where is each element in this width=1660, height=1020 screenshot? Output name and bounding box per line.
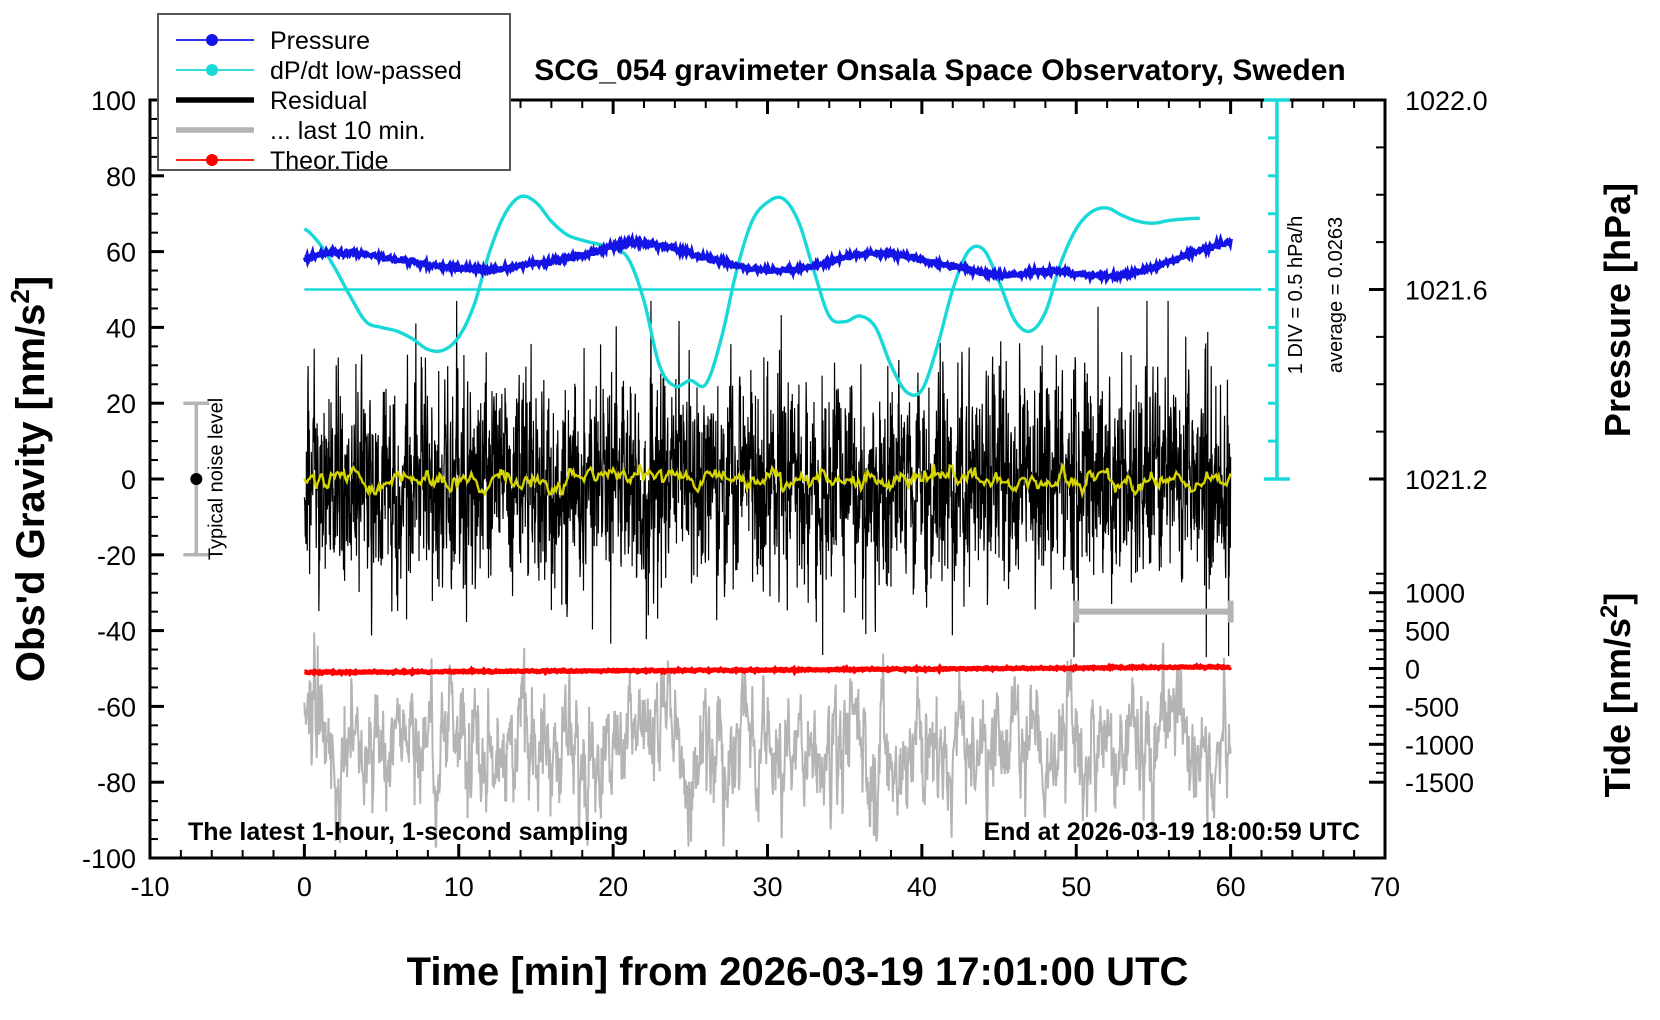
legend-swatch-marker: [206, 64, 218, 76]
x-tick-label: 10: [444, 872, 474, 902]
y-tick-label: -60: [97, 692, 136, 722]
y-axis-label: Obs'd Gravity [nm/s2]: [5, 276, 53, 682]
y-tick-label: 40: [106, 313, 136, 343]
x-tick-label: 50: [1061, 872, 1091, 902]
legend-label: Residual: [270, 87, 367, 115]
y-tick-label: 100: [91, 86, 136, 116]
noise-bar-center-dot: [190, 473, 202, 485]
x-tick-label: 30: [752, 872, 782, 902]
pressure-axis-label: Pressure [hPa]: [1597, 183, 1638, 437]
x-tick-label: 0: [297, 872, 312, 902]
tide-tick-label: -1500: [1405, 768, 1474, 798]
pressure-tick-label: 1021.6: [1405, 276, 1488, 306]
legend-label: Theor.Tide: [270, 147, 389, 175]
bottom-right-annotation: End at 2026-03-19 18:00:59 UTC: [983, 818, 1360, 846]
legend-swatch-marker: [206, 34, 218, 46]
gravimeter-plot: -10010203040506070-100-80-60-40-20020406…: [0, 0, 1660, 1020]
tide-axis-label: Tide [nm/s2]: [1596, 593, 1639, 798]
legend-label: dP/dt low-passed: [270, 57, 462, 85]
div-scale-label: 1 DIV = 0.5 hPa/h: [1285, 216, 1307, 374]
legend-label: Pressure: [270, 27, 370, 55]
tide-tick-label: 500: [1405, 617, 1450, 647]
tide-tick-label: -500: [1405, 692, 1459, 722]
y-tick-label: 20: [106, 389, 136, 419]
legend-label: ... last 10 min.: [270, 117, 426, 145]
y-tick-label: 60: [106, 238, 136, 268]
y-tick-label: 0: [121, 465, 136, 495]
tide-tick-label: 0: [1405, 655, 1420, 685]
y-tick-label: -100: [82, 844, 136, 874]
x-tick-label: 20: [598, 872, 628, 902]
bottom-left-annotation: The latest 1-hour, 1-second sampling: [188, 818, 628, 846]
y-tick-label: -80: [97, 768, 136, 798]
pressure-tick-label: 1022.0: [1405, 86, 1488, 116]
tide-tick-label: -1000: [1405, 730, 1474, 760]
plot-root: -10010203040506070-100-80-60-40-20020406…: [0, 0, 1660, 1020]
x-tick-label: -10: [130, 872, 169, 902]
noise-level-label: Typical noise level: [205, 398, 227, 560]
x-axis-label: Time [min] from 2026-03-19 17:01:00 UTC: [407, 950, 1189, 994]
plot-title: SCG_054 gravimeter Onsala Space Observat…: [534, 54, 1346, 87]
tide-tick-label: 1000: [1405, 579, 1465, 609]
pressure-tick-label: 1021.2: [1405, 465, 1488, 495]
x-tick-label: 60: [1216, 872, 1246, 902]
x-tick-label: 40: [907, 872, 937, 902]
y-tick-label: 80: [106, 162, 136, 192]
y-tick-label: -40: [97, 617, 136, 647]
x-tick-label: 70: [1370, 872, 1400, 902]
average-label: average = 0.0263: [1325, 217, 1347, 373]
legend-swatch-marker: [206, 154, 218, 166]
y-tick-label: -20: [97, 541, 136, 571]
legend-layer: PressuredP/dt low-passedResidual... last…: [158, 14, 510, 175]
